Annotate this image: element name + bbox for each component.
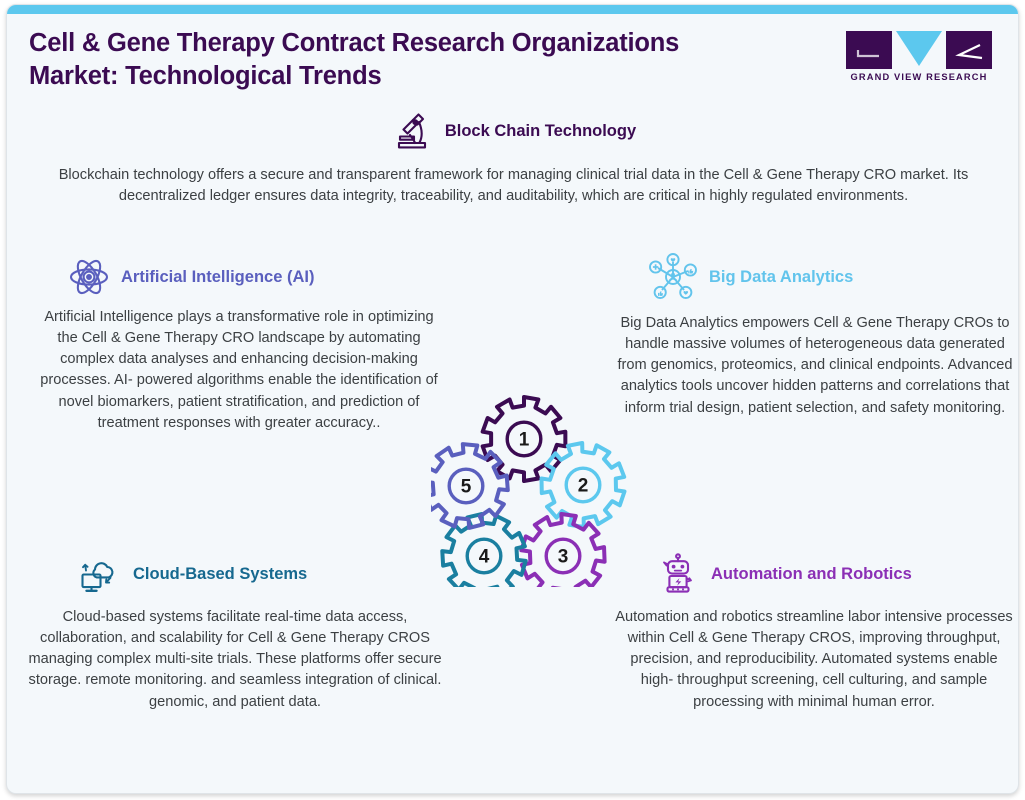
- gear-number-label: 4: [479, 546, 490, 567]
- section-big-data-analytics: Big Data Analytics Big Data Analytics em…: [607, 251, 1019, 419]
- gear-number-label: 1: [519, 429, 530, 450]
- section-title: Artificial Intelligence (AI): [121, 268, 314, 287]
- section-automation-and-robotics: Automation and Robotics Automation and r…: [607, 551, 1019, 713]
- section-header: Big Data Analytics: [607, 251, 1019, 303]
- section-title: Big Data Analytics: [709, 268, 853, 287]
- section-title: Block Chain Technology: [445, 122, 636, 141]
- microscope-icon: [391, 109, 435, 153]
- cloud-computer-icon: [77, 551, 123, 597]
- section-title: Automation and Robotics: [711, 565, 912, 584]
- gear-number-label: 3: [558, 546, 569, 567]
- robot-icon: [655, 551, 701, 597]
- logo-mark-icon: [846, 31, 992, 69]
- gear-number-label: 2: [578, 475, 589, 496]
- page-title: Cell & Gene Therapy Contract Research Or…: [29, 27, 789, 92]
- section-header: Cloud-Based Systems: [29, 551, 449, 597]
- infographic-card: Cell & Gene Therapy Contract Research Or…: [6, 4, 1019, 794]
- top-accent-bar: [7, 5, 1018, 14]
- brand-logo: GRAND VIEW RESEARCH: [846, 31, 992, 83]
- gear-cluster-diagram: 12345: [431, 393, 635, 587]
- section-title: Cloud-Based Systems: [133, 565, 307, 584]
- page-title-line-2: Market: Technological Trends: [29, 60, 789, 93]
- section-description: Blockchain technology offers a secure an…: [56, 165, 972, 207]
- logo-wordmark: GRAND VIEW RESEARCH: [846, 72, 992, 82]
- section-header: Artificial Intelligence (AI): [29, 255, 439, 299]
- infographic-page: Cell & Gene Therapy Contract Research Or…: [0, 0, 1025, 800]
- section-artificial-intelligence: Artificial Intelligence (AI) Artificial …: [29, 255, 439, 434]
- page-title-line-1: Cell & Gene Therapy Contract Research Or…: [29, 27, 789, 60]
- gear-number-label: 5: [461, 476, 472, 497]
- section-description: Big Data Analytics empowers Cell & Gene …: [615, 313, 1015, 419]
- gear-cluster-svg: 12345: [431, 393, 635, 587]
- network-analytics-icon: [647, 251, 699, 303]
- section-description: Automation and robotics streamline labor…: [613, 607, 1015, 713]
- section-header: Block Chain Technology: [7, 109, 1019, 153]
- section-block-chain-technology: Block Chain Technology Blockchain techno…: [7, 109, 1019, 207]
- section-cloud-based-systems: Cloud-Based Systems Cloud-based systems …: [29, 551, 449, 713]
- section-description: Cloud-based systems facilitate real-time…: [25, 607, 445, 713]
- atom-icon: [67, 255, 111, 299]
- section-header: Automation and Robotics: [607, 551, 1019, 597]
- section-description: Artificial Intelligence plays a transfor…: [39, 307, 439, 434]
